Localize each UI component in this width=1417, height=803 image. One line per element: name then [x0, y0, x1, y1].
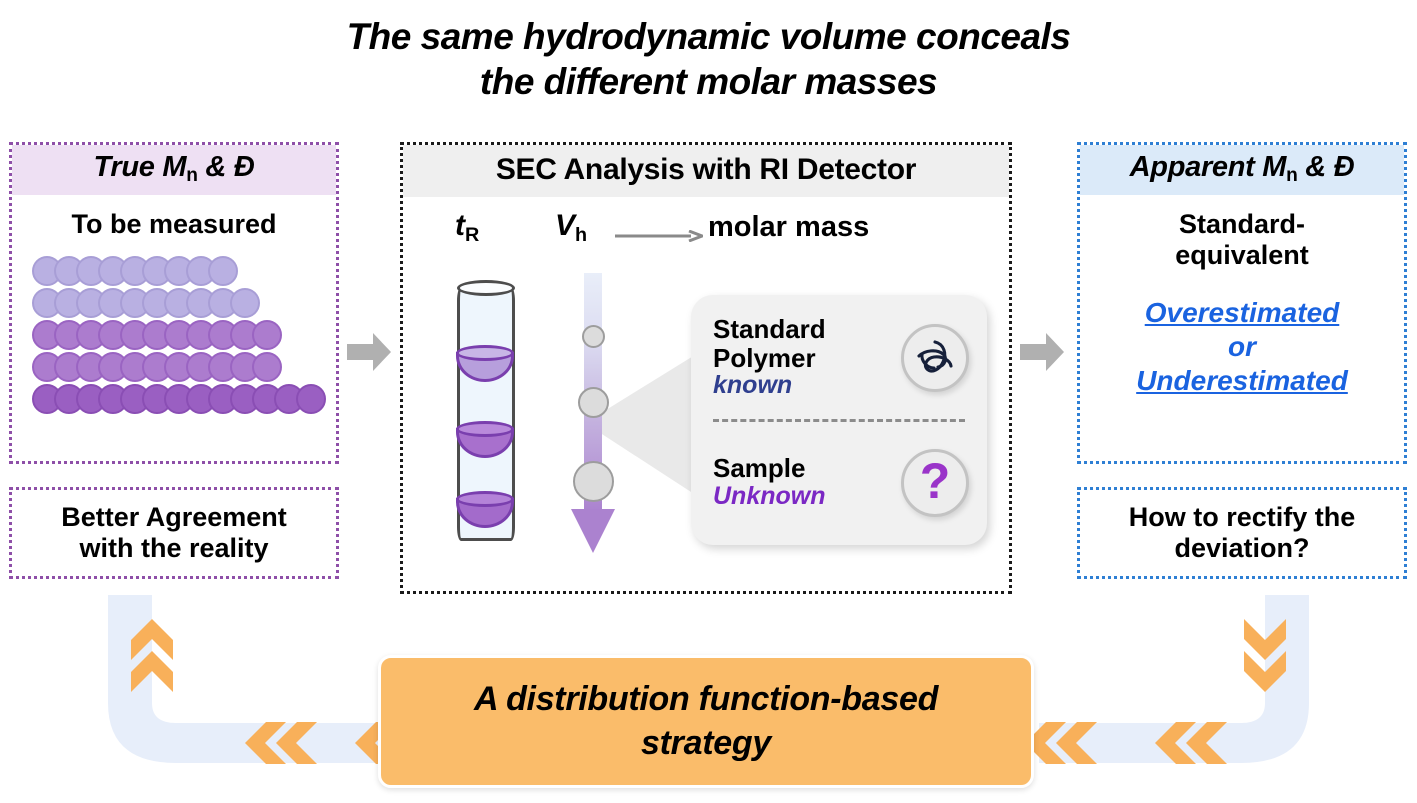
- column-band: [456, 491, 514, 529]
- grey-right-arrow-icon-2: [1018, 330, 1066, 379]
- rectify-line2: deviation?: [1129, 533, 1356, 564]
- right-subtitle-line2: equivalent: [1080, 240, 1404, 270]
- molar-mass-label: molar mass: [708, 211, 869, 244]
- retention-time-label: tR: [455, 209, 479, 247]
- page-title-line1: The same hydrodynamic volume conceals: [0, 14, 1417, 59]
- polymer-chain: [32, 288, 336, 317]
- polymer-bead: [252, 352, 282, 382]
- sample-title: Sample: [713, 454, 826, 483]
- right-panel-subtitle: Standard- equivalent: [1080, 209, 1404, 269]
- standard-polymer-row: Standard Polymer known: [691, 295, 987, 420]
- polymer-chain: [32, 256, 336, 285]
- right-arrow-icon: [615, 229, 703, 241]
- better-agreement-box: Better Agreement with the reality: [9, 487, 339, 579]
- rectify-line1: How to rectify the: [1129, 502, 1356, 533]
- polymer-bead: [208, 256, 238, 286]
- left-panel-header: True Mn & Đ: [12, 145, 336, 195]
- vh-subscript: h: [575, 224, 587, 247]
- polymer-chain: [32, 384, 336, 413]
- down-gradient-arrow-icon: [563, 273, 623, 563]
- apparent-values-panel: Apparent Mn & Đ Standard- equivalent Ove…: [1077, 142, 1407, 464]
- standard-polymer-text: Standard Polymer known: [713, 315, 826, 400]
- polymer-chain: [32, 352, 336, 381]
- molecule-node-large: [573, 461, 614, 502]
- hydrodynamic-volume-label: Vh: [555, 209, 587, 247]
- polymer-coil-icon: [901, 324, 969, 392]
- left-header-symbol: M: [162, 151, 186, 183]
- right-header-suffix: & Đ: [1298, 151, 1355, 183]
- estimate-text: Overestimated or Underestimated: [1080, 296, 1404, 398]
- banner-line2: strategy: [474, 722, 938, 766]
- sec-column-icon: [457, 279, 515, 549]
- tr-subscript: R: [465, 224, 479, 247]
- center-panel-header: SEC Analysis with RI Detector: [403, 145, 1009, 197]
- sample-row: Sample Unknown ?: [691, 420, 987, 545]
- standard-state: known: [713, 372, 826, 400]
- rectify-deviation-box: How to rectify the deviation?: [1077, 487, 1407, 579]
- estimate-or: or: [1080, 330, 1404, 364]
- true-values-panel: True Mn & Đ To be measured: [9, 142, 339, 464]
- page-title-line2: the different molar masses: [0, 59, 1417, 104]
- banner-line1: A distribution function-based: [474, 678, 938, 722]
- grey-right-arrow-icon: [345, 330, 393, 379]
- column-band: [456, 421, 514, 459]
- estimate-underestimated: Underestimated: [1080, 364, 1404, 398]
- page-title: The same hydrodynamic volume conceals th…: [0, 14, 1417, 104]
- right-header-prefix: Apparent: [1130, 151, 1263, 183]
- molecule-node-medium: [578, 387, 609, 418]
- right-panel-header: Apparent Mn & Đ: [1080, 145, 1404, 195]
- right-header-symbol: M: [1262, 151, 1286, 183]
- polymer-bead: [252, 320, 282, 350]
- better-agreement-line2: with the reality: [61, 533, 287, 564]
- sample-state: Unknown: [713, 483, 826, 511]
- left-panel-subtitle: To be measured: [12, 209, 336, 240]
- tr-symbol: t: [455, 209, 465, 242]
- standard-title-line1: Standard: [713, 315, 826, 344]
- molecule-node-small: [582, 325, 605, 348]
- flow-arrowhead: [571, 509, 615, 553]
- estimate-overestimated: Overestimated: [1080, 296, 1404, 330]
- axis-label-row: tR Vh molar mass: [403, 205, 1009, 261]
- right-header-subscript: n: [1286, 166, 1297, 185]
- standard-title-line2: Polymer: [713, 344, 826, 373]
- strategy-banner: A distribution function-based strategy: [378, 655, 1034, 788]
- vh-symbol: V: [555, 209, 575, 242]
- left-header-prefix: True: [94, 151, 163, 183]
- question-mark-glyph: ?: [920, 456, 951, 506]
- polymer-chain-group: [12, 256, 336, 413]
- polymer-chain: [32, 320, 336, 349]
- standard-vs-sample-callout: Standard Polymer known Sample Unknown: [691, 295, 987, 545]
- left-header-subscript: n: [186, 166, 197, 185]
- right-subtitle-line1: Standard-: [1080, 209, 1404, 239]
- left-header-suffix: & Đ: [198, 151, 255, 183]
- column-band: [456, 345, 514, 383]
- polymer-bead: [230, 288, 260, 318]
- column-cap: [457, 280, 515, 296]
- polymer-bead: [296, 384, 326, 414]
- sec-analysis-panel: SEC Analysis with RI Detector tR Vh mola…: [400, 142, 1012, 594]
- question-mark-icon: ?: [901, 449, 969, 517]
- better-agreement-line1: Better Agreement: [61, 502, 287, 533]
- sample-text: Sample Unknown: [713, 454, 826, 510]
